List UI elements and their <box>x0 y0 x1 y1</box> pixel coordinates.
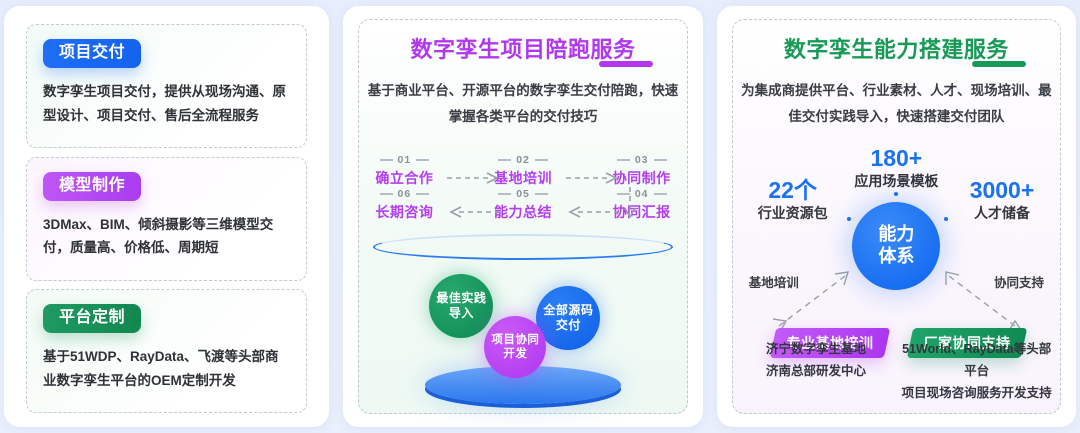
stat-industry-packs-value: 22个 <box>733 178 853 202</box>
bubble-source-code-line2: 交付 <box>556 318 581 333</box>
bubble-collab-dev[interactable]: 项目协同 开发 <box>484 316 546 378</box>
capability-core-circle[interactable]: 能力 体系 <box>852 202 940 290</box>
service-card-modeling[interactable]: 模型制作 3DMax、BIM、倾斜摄影等三维模型交付，质量高、价格低、周期短 <box>26 157 307 281</box>
service-tag-modeling: 模型制作 <box>43 172 141 201</box>
flow-step-01[interactable]: 01 确立合作 <box>365 154 443 188</box>
flow-step-06-label: 长期咨询 <box>365 202 443 222</box>
panel3-title-wrap: 数字孪生能力搭建服务 <box>741 32 1052 64</box>
panel-accompany-service: 数字孪生项目陪跑服务 基于商业平台、开源平台的数字孪生交付陪跑，快速掌握各类平台… <box>343 6 702 427</box>
footer-base-line2: 济南总部研发中心 <box>739 361 894 383</box>
bubble-source-code[interactable]: 全部源码 交付 <box>536 286 600 350</box>
service-desc-delivery: 数字孪生项目交付，提供从现场沟通、原型设计、项目交付、售后全流程服务 <box>43 80 290 127</box>
bubble-collab-dev-line2: 开发 <box>503 347 527 361</box>
bubble-best-practice[interactable]: 最佳实践 导入 <box>429 274 493 338</box>
process-flow-row-top: 01 确立合作 02 基地培训 03 协同制作 <box>365 154 680 188</box>
footer-vendor-line1: 51World、RayData等头部平台 <box>899 339 1054 383</box>
flow-arrow-right-1-icon <box>445 171 482 185</box>
flow-step-03-number: 03 <box>603 154 681 166</box>
footer-base-line1: 济宁数字孪生基地 <box>739 339 894 361</box>
title-underline-accent <box>972 61 1026 67</box>
panel3-title: 数字孪生能力搭建服务 <box>784 37 1009 62</box>
stat-talent-pool-value: 3000+ <box>942 178 1062 202</box>
footer-col-base: 济宁数字孪生基地 济南总部研发中心 <box>739 339 894 405</box>
flow-step-06[interactable]: 06 长期咨询 <box>365 188 443 222</box>
flow-arrow-left-2-icon <box>564 205 601 219</box>
flow-step-05-number: 05 <box>484 188 562 200</box>
panel2-subtitle: 基于商业平台、开源平台的数字孪生交付陪跑，快速掌握各类平台的交付技巧 <box>367 78 678 129</box>
flow-step-01-label: 确立合作 <box>365 168 443 188</box>
service-tag-platform: 平台定制 <box>43 304 141 333</box>
stat-industry-packs: 22个 行业资源包 <box>733 178 853 223</box>
stat-scene-templates: 180+ 应用场景模板 <box>834 146 958 191</box>
service-card-platform[interactable]: 平台定制 基于51WDP、RayData、飞渡等头部商业数字孪生平台的OEM定制… <box>26 289 307 413</box>
flow-arrow-right-2-icon <box>564 171 601 185</box>
panel3-footer: 济宁数字孪生基地 济南总部研发中心 51World、RayData等头部平台 项… <box>739 339 1054 405</box>
stat-talent-pool-label: 人才储备 <box>942 203 1062 223</box>
process-flow: 01 确立合作 02 基地培训 03 协同制作 <box>365 154 680 222</box>
service-card-list: 项目交付 数字孪生项目交付，提供从现场沟通、原型设计、项目交付、售后全流程服务 … <box>26 24 307 413</box>
footer-vendor-line2: 项目现场咨询服务开发支持 <box>899 383 1054 405</box>
service-desc-platform: 基于51WDP、RayData、飞渡等头部商业数字孪生平台的OEM定制开发 <box>43 345 290 392</box>
flow-arrow-left-1-icon <box>445 205 482 219</box>
stat-dot-left <box>847 217 851 221</box>
flow-step-01-number: 01 <box>365 154 443 166</box>
service-tag-delivery: 项目交付 <box>43 39 141 68</box>
stat-scene-templates-value: 180+ <box>834 146 958 170</box>
stat-scene-templates-label: 应用场景模板 <box>834 171 958 191</box>
capability-core-line2: 体系 <box>878 246 914 268</box>
flow-step-02-number: 02 <box>484 154 562 166</box>
panel3-subtitle: 为集成商提供平台、行业素材、人才、现场培训、最佳交付实践导入，快速搭建交付团队 <box>741 78 1052 129</box>
service-card-delivery[interactable]: 项目交付 数字孪生项目交付，提供从现场沟通、原型设计、项目交付、售后全流程服务 <box>26 24 307 148</box>
stat-industry-packs-label: 行业资源包 <box>733 203 853 223</box>
arrow-label-base-training: 基地培训 <box>749 272 799 291</box>
flow-arrow-down-icon <box>623 186 637 220</box>
page-root: 项目交付 数字孪生项目交付，提供从现场沟通、原型设计、项目交付、售后全流程服务 … <box>0 0 1080 433</box>
capability-core-line1: 能力 <box>878 224 914 246</box>
bubble-source-code-line1: 全部源码 <box>543 303 593 318</box>
arrow-label-collab-support: 协同支持 <box>994 272 1044 291</box>
orbit-ring-graphic <box>373 234 672 260</box>
flow-step-06-number: 06 <box>365 188 443 200</box>
panel-capability-service: 数字孪生能力搭建服务 为集成商提供平台、行业素材、人才、现场培训、最佳交付实践导… <box>717 6 1076 427</box>
stat-dot-right <box>944 217 948 221</box>
title-underline-accent <box>599 61 653 67</box>
stat-talent-pool: 3000+ 人才储备 <box>942 178 1062 223</box>
bubble-best-practice-line1: 最佳实践 <box>436 291 486 306</box>
flow-step-04-number: 04 <box>603 188 681 200</box>
service-desc-modeling: 3DMax、BIM、倾斜摄影等三维模型交付，质量高、价格低、周期短 <box>43 213 290 260</box>
bubble-collab-dev-line1: 项目协同 <box>491 333 539 347</box>
panel-service-list: 项目交付 数字孪生项目交付，提供从现场沟通、原型设计、项目交付、售后全流程服务 … <box>4 6 329 427</box>
bubble-best-practice-line2: 导入 <box>449 306 474 321</box>
panel2-title: 数字孪生项目陪跑服务 <box>411 37 636 62</box>
footer-col-vendor: 51World、RayData等头部平台 项目现场咨询服务开发支持 <box>899 339 1054 405</box>
panel2-title-wrap: 数字孪生项目陪跑服务 <box>367 32 678 64</box>
